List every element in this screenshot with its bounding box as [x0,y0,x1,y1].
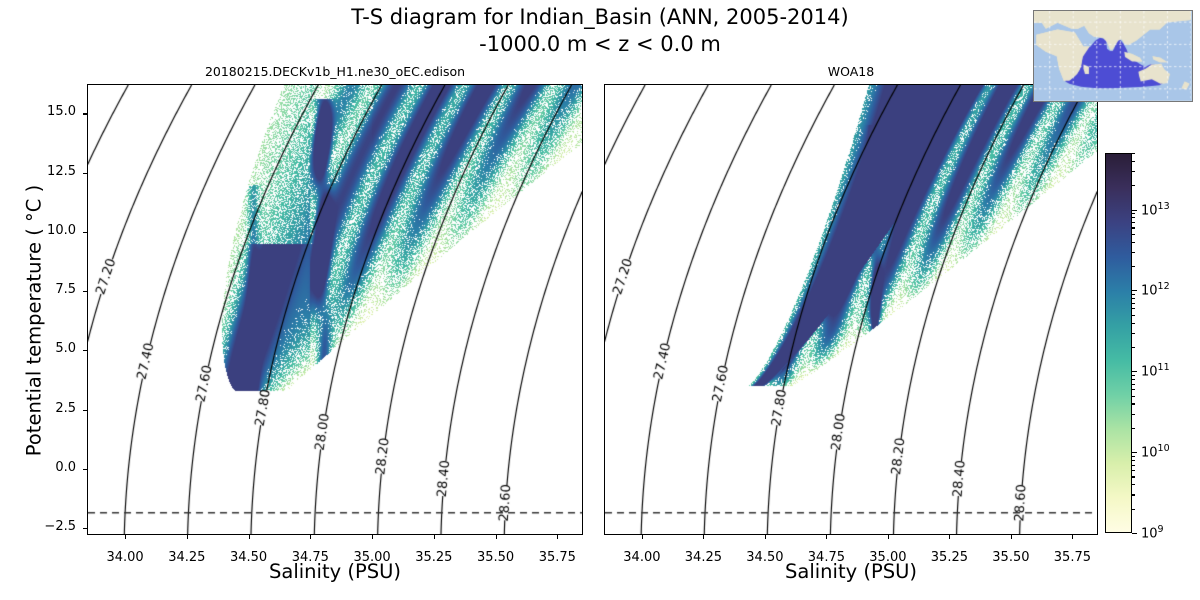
colorbar-minor-tick-mark [1132,153,1135,154]
colorbar-minor-tick-mark [1132,484,1135,485]
x-tick-mark [372,535,373,539]
figure-title-line1: T-S diagram for Indian_Basin (ANN, 2005-… [0,4,1200,31]
x-tick-mark [125,535,126,539]
y-tick-mark [83,528,87,529]
x-tick-mark [826,535,827,539]
colorbar-tick-mark [1132,210,1137,211]
y-axis-label: Potential temperature ( °C ) [23,91,46,551]
colorbar-minor-tick-mark [1132,217,1135,218]
colorbar-tick-mark [1132,533,1137,534]
y-tick-mark [83,291,87,292]
colorbar-minor-tick-mark [1132,403,1135,404]
basin-map-canvas [1034,11,1191,100]
colorbar-minor-tick-mark [1132,308,1135,309]
colorbar-minor-tick-mark [1132,396,1135,397]
colorbar-minor-tick-mark [1132,161,1135,162]
colorbar-gradient [1106,154,1131,532]
y-tick-mark [83,113,87,114]
colorbar-minor-tick-mark [1132,465,1135,466]
colorbar-tick-label: 1012 [1141,281,1170,298]
colorbar-minor-tick-mark [1132,298,1135,299]
y-tick-mark [83,410,87,411]
scatter-layer-model [88,85,582,534]
colorbar-minor-tick-mark [1132,333,1135,334]
colorbar-tick-label: 1010 [1141,443,1170,460]
colorbar-minor-tick-mark [1132,234,1135,235]
colorbar-minor-tick-mark [1132,509,1135,510]
colorbar-minor-tick-mark [1132,227,1135,228]
y-tick-mark [83,469,87,470]
colorbar-minor-tick-mark [1132,389,1135,390]
x-tick-mark [1011,535,1012,539]
panel-title-model: 20180215.DECKv1b_H1.ne30_oEC.edison [87,64,583,79]
colorbar-tick-mark [1132,371,1137,372]
panel-title-observations: WOA18 [604,64,1098,79]
x-axis-label-model: Salinity (PSU) [87,560,583,583]
colorbar-minor-tick-mark [1132,213,1135,214]
y-tick-mark [83,350,87,351]
colorbar-tick-label: 1011 [1141,362,1170,379]
scatter-layer-observations [605,85,1097,534]
colorbar-minor-tick-mark [1132,375,1135,376]
colorbar-minor-tick-mark [1132,347,1135,348]
colorbar-minor-tick-mark [1132,252,1135,253]
plot-area-observations[interactable] [604,84,1098,535]
y-tick-mark [83,173,87,174]
colorbar-minor-tick-mark [1132,460,1135,461]
x-tick-mark [187,535,188,539]
x-tick-mark [642,535,643,539]
plot-area-model[interactable] [87,84,583,535]
x-tick-mark [434,535,435,539]
x-axis-label-observations: Salinity (PSU) [604,560,1098,583]
colorbar-minor-tick-mark [1132,476,1135,477]
colorbar-tick-mark [1132,290,1137,291]
x-tick-mark [765,535,766,539]
colorbar-minor-tick-mark [1132,384,1135,385]
colorbar-minor-tick-mark [1132,379,1135,380]
figure-title-line2: -1000.0 m < z < 0.0 m [0,31,1200,58]
y-tick-mark [83,232,87,233]
colorbar-minor-tick-mark [1132,456,1135,457]
colorbar-minor-tick-mark [1132,222,1135,223]
colorbar-minor-tick-mark [1132,494,1135,495]
colorbar-minor-tick-mark [1132,323,1135,324]
colorbar-tick-label: 109 [1141,524,1164,541]
x-tick-mark [310,535,311,539]
colorbar-minor-tick-mark [1132,315,1135,316]
x-tick-mark [1072,535,1073,539]
colorbar-tick-mark [1132,452,1137,453]
colorbar-tick-label: 1013 [1141,201,1170,218]
figure-canvas: T-S diagram for Indian_Basin (ANN, 2005-… [0,0,1200,600]
x-tick-mark [703,535,704,539]
colorbar-minor-tick-mark [1132,242,1135,243]
x-tick-mark [496,535,497,539]
colorbar-minor-tick-mark [1132,185,1135,186]
x-tick-mark [557,535,558,539]
colorbar-minor-tick-mark [1132,414,1135,415]
x-tick-mark [888,535,889,539]
x-tick-mark [249,535,250,539]
colorbar[interactable] [1105,153,1132,533]
colorbar-minor-tick-mark [1132,294,1135,295]
colorbar-minor-tick-mark [1132,470,1135,471]
colorbar-minor-tick-mark [1132,303,1135,304]
colorbar-minor-tick-mark [1132,171,1135,172]
x-tick-mark [949,535,950,539]
basin-location-map[interactable] [1033,10,1193,102]
colorbar-minor-tick-mark [1132,428,1135,429]
colorbar-minor-tick-mark [1132,266,1135,267]
